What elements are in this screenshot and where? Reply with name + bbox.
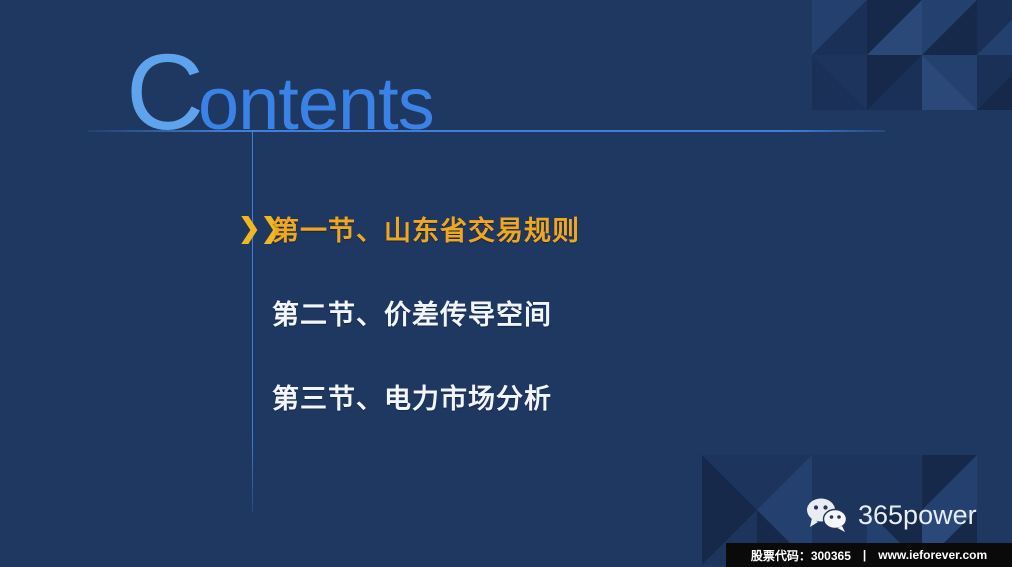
footer-separator: |	[863, 548, 866, 562]
presentation-slide: Contents ❯❯ 第一节、山东省交易规则 第二节、价差传导空间 第三节、电…	[0, 0, 1012, 567]
title-remaining-letters: ontents	[198, 62, 434, 145]
title-horizontal-divider	[88, 130, 885, 132]
footer-bar: 股票代码：300365 | www.ieforever.com	[726, 543, 1012, 567]
website-url-text: www.ieforever.com	[878, 548, 987, 562]
chevron-right-icon: ❯❯	[238, 215, 272, 242]
stock-code-text: 股票代码：300365	[751, 547, 851, 564]
contents-item-section-1[interactable]: ❯❯ 第一节、山东省交易规则	[238, 186, 798, 270]
decorative-triangles-top-right	[812, 0, 1012, 112]
contents-item-label: 第一节、山东省交易规则	[272, 209, 580, 248]
wechat-watermark: 365power	[806, 498, 977, 532]
contents-item-label: 第三节、电力市场分析	[272, 377, 552, 416]
contents-item-label: 第二节、价差传导空间	[272, 293, 552, 332]
contents-item-section-3[interactable]: 第三节、电力市场分析	[238, 354, 798, 438]
wechat-icon	[806, 498, 848, 532]
contents-item-section-2[interactable]: 第二节、价差传导空间	[238, 270, 798, 354]
title-initial-letter: C	[126, 31, 202, 152]
contents-list: ❯❯ 第一节、山东省交易规则 第二节、价差传导空间 第三节、电力市场分析	[238, 186, 798, 438]
wechat-account-name: 365power	[858, 502, 977, 529]
